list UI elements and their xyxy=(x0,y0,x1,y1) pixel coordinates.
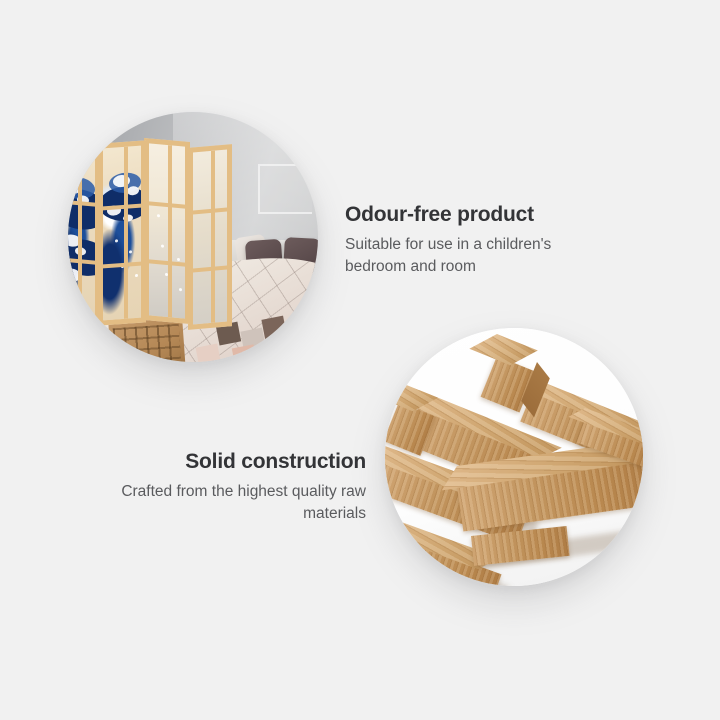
feature-odour-free: Odour-free product Suitable for use in a… xyxy=(345,203,605,278)
screen-paper-edge xyxy=(193,150,227,325)
wall-picture-frame xyxy=(258,164,312,214)
promo-canvas: Odour-free product Suitable for use in a… xyxy=(0,0,720,720)
bedroom-scene xyxy=(68,112,318,362)
feature-solid-construction-description: Crafted from the highest quality raw mat… xyxy=(100,481,366,525)
feature-odour-free-title: Odour-free product xyxy=(345,203,605,227)
screen-panel-1 xyxy=(68,136,100,322)
stacked-wooden-beams-photo xyxy=(385,328,643,586)
feature-solid-construction: Solid construction Crafted from the high… xyxy=(100,450,366,525)
bedroom-with-folding-screen-photo xyxy=(68,112,318,362)
folding-screen xyxy=(68,138,234,320)
feature-solid-construction-title: Solid construction xyxy=(100,450,366,474)
screen-panel-4 xyxy=(188,144,232,330)
feature-odour-free-description: Suitable for use in a children's bedroom… xyxy=(345,234,605,278)
lumber-scene xyxy=(385,328,643,586)
wicker-chest xyxy=(108,317,185,362)
screen-panel-3 xyxy=(144,138,190,324)
chest-lattice-pattern xyxy=(113,324,182,362)
great-wave-artwork-continued xyxy=(103,146,141,321)
screen-paper xyxy=(149,143,185,318)
screen-panel-2 xyxy=(98,140,146,325)
